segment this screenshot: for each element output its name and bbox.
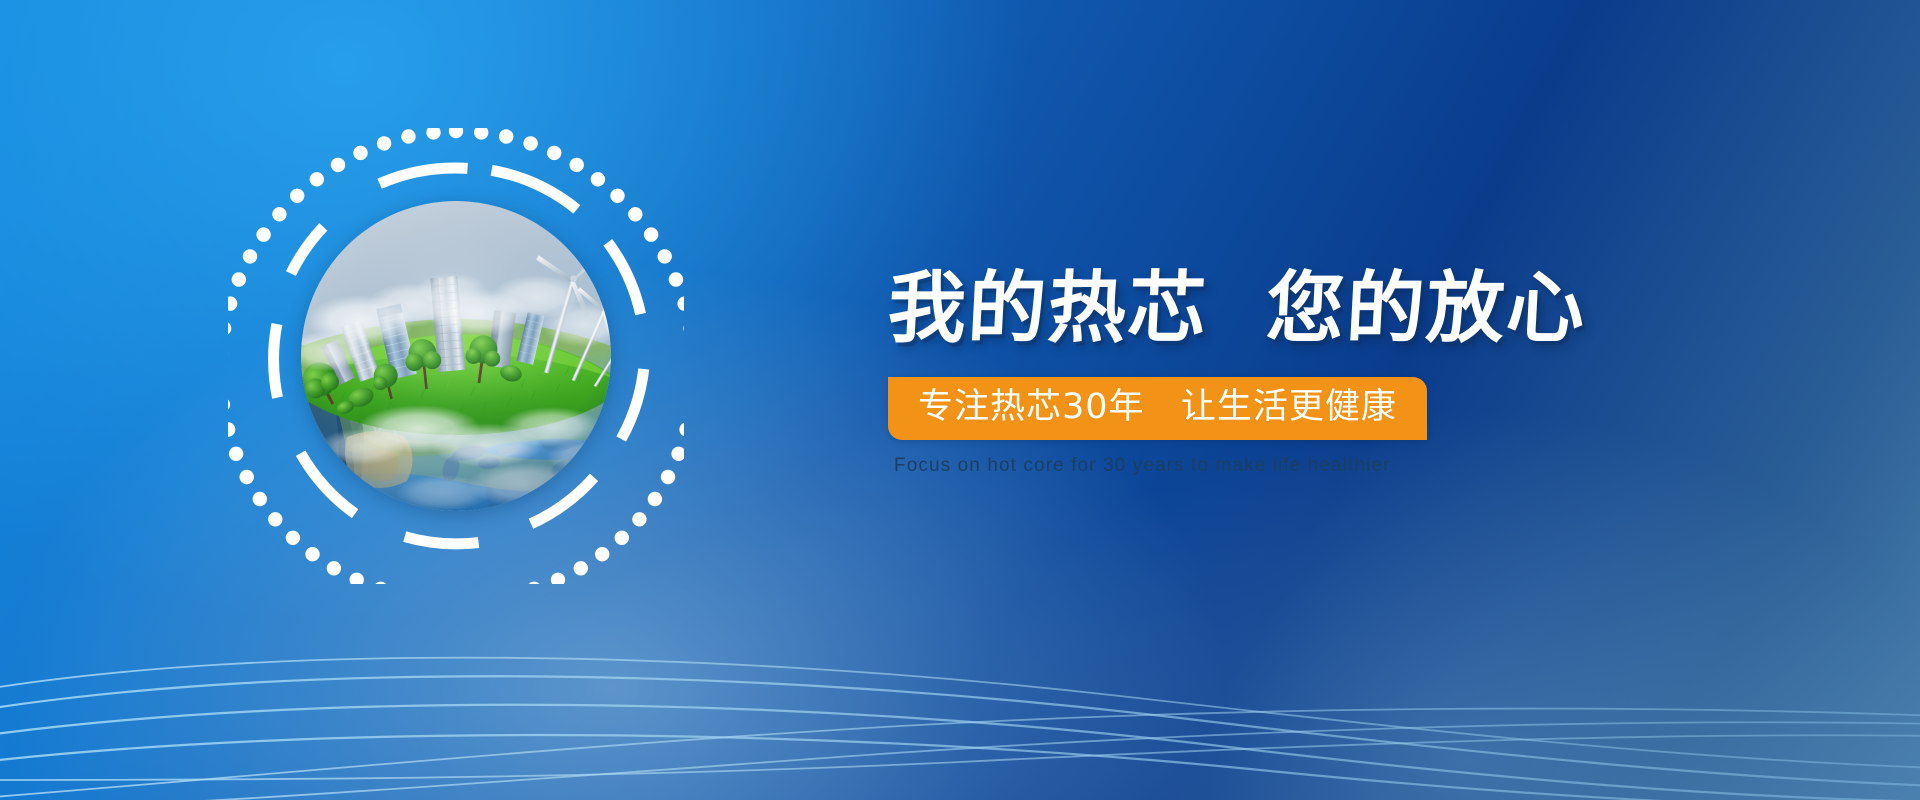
globe-illustration bbox=[301, 201, 611, 511]
status-badge: 专注热芯30年 让生活更健康 bbox=[888, 377, 1427, 440]
banner-copy: 我的热芯 您的放心 专注热芯30年 让生活更健康 Focus on hot co… bbox=[888, 268, 1748, 477]
page-title: 我的热芯 您的放心 bbox=[886, 268, 1750, 351]
hero-banner: 我的热芯 您的放心 专注热芯30年 让生活更健康 Focus on hot co… bbox=[0, 0, 1920, 800]
eco-earth-emblem bbox=[228, 128, 684, 584]
badge-label: 专注热芯30年 让生活更健康 bbox=[918, 387, 1397, 427]
earth-globe bbox=[301, 201, 611, 511]
globe-image bbox=[301, 201, 611, 511]
subtitle-english: Focus on hot core for 30 years to make l… bbox=[894, 455, 1748, 477]
